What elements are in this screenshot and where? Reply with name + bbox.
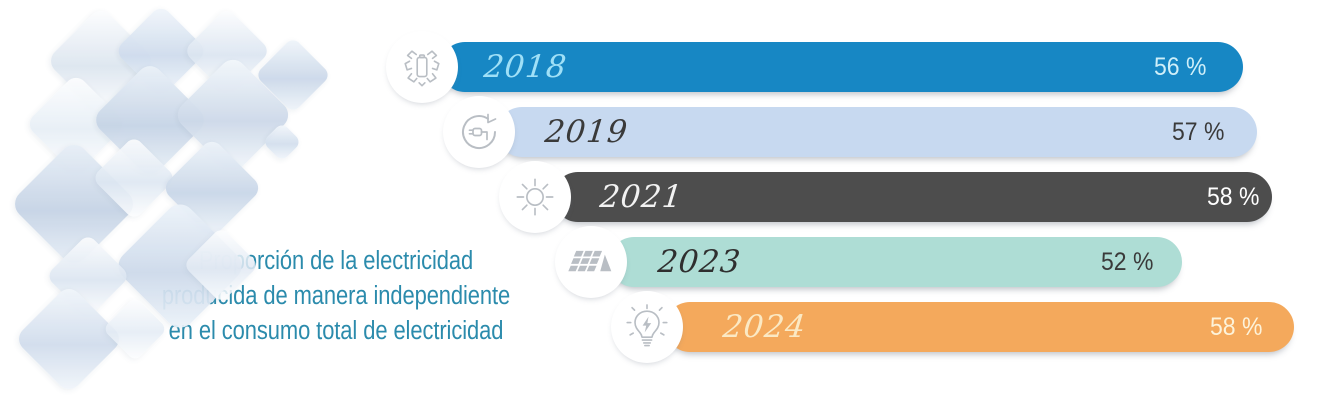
bar-2021: [553, 172, 1272, 222]
bar-value-label-2019: 57 %: [1172, 107, 1224, 157]
icon-bubble-2023: [555, 226, 627, 298]
bar-row: 202458 %: [0, 302, 1326, 352]
infographic-canvas: 201856 %201957 %202158 %202352 %202458 %…: [0, 0, 1326, 400]
bar-row: 201957 %: [0, 107, 1326, 157]
plug-cycle-icon: [455, 108, 503, 156]
icon-bubble-2019: [443, 96, 515, 168]
recycle-battery-icon: [399, 44, 445, 90]
solar-panel-icon: [567, 240, 615, 284]
icon-bubble-2024: [611, 291, 683, 363]
bar-row: 201856 %: [0, 42, 1326, 92]
bar-row: 202158 %: [0, 172, 1326, 222]
bar-row: 202352 %: [0, 237, 1326, 287]
lightbulb-bolt-icon: [624, 303, 670, 351]
bar-value-label-2018: 56 %: [1154, 42, 1206, 92]
bar-value-label-2024: 58 %: [1210, 302, 1262, 352]
bar-2024: [665, 302, 1294, 352]
bar-2023: [609, 237, 1182, 287]
icon-bubble-2021: [499, 161, 571, 233]
bar-value-label-2023: 52 %: [1101, 237, 1153, 287]
bar-value-label-2021: 58 %: [1207, 172, 1259, 222]
bar-2019: [497, 107, 1257, 157]
bar-2018: [440, 42, 1243, 92]
icon-bubble-2018: [386, 31, 458, 103]
sun-icon: [512, 174, 558, 220]
